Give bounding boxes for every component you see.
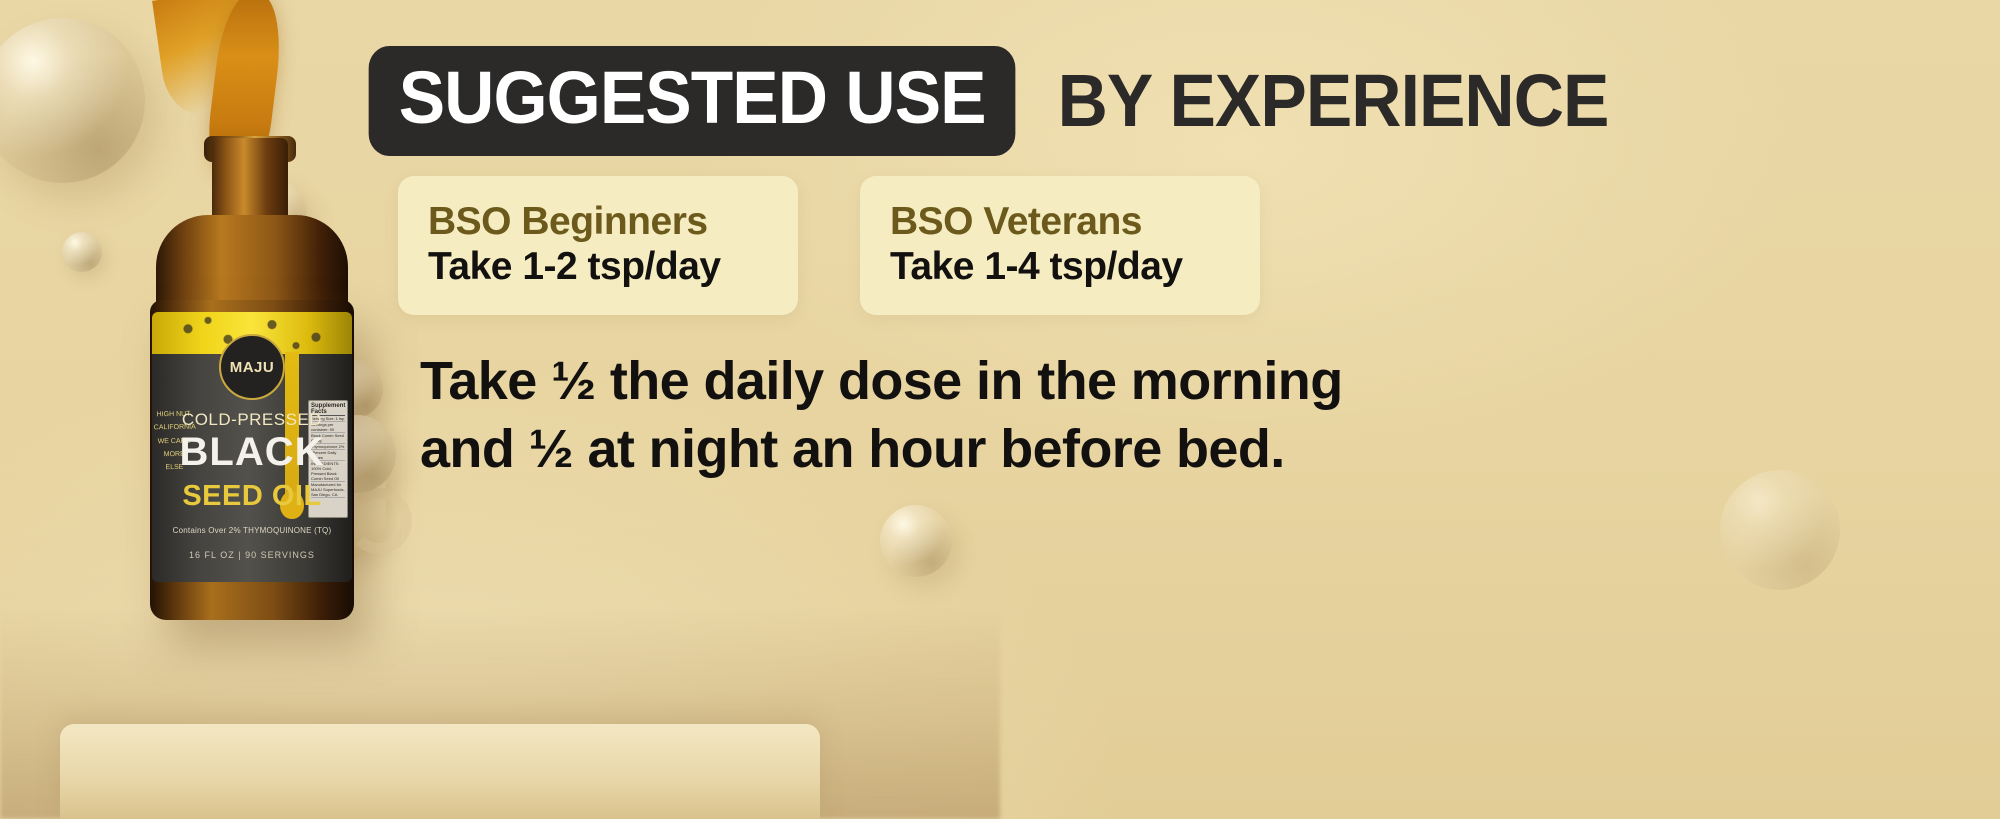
instruction-line-2: and ½ at night an hour before bed. <box>420 416 1740 484</box>
dosage-cards: BSO Beginners Take 1-2 tsp/day BSO Veter… <box>398 176 1260 315</box>
promo-banner: MAJU HIGH NUT CALIFORNIA WE CARE MORE EL… <box>0 0 2000 819</box>
card-title: BSO Veterans <box>890 202 1230 243</box>
headline-badge: SUGGESTED USE <box>369 46 1016 156</box>
headline-rest: BY EXPERIENCE <box>1058 67 1609 135</box>
instruction-line-1: Take ½ the daily dose in the morning <box>420 348 1740 416</box>
label-thymoquinone-claim: Contains Over 2% THYMOQUINONE (TQ) <box>152 526 352 535</box>
label-cold-pressed: COLD-PRESSED <box>152 410 352 430</box>
card-dose: Take 1-2 tsp/day <box>428 245 768 289</box>
headline: SUGGESTED USE BY EXPERIENCE <box>348 46 1626 156</box>
label-seed-oil: SEED OIL <box>152 480 352 513</box>
instruction-paragraph: Take ½ the daily dose in the morning and… <box>420 348 1740 483</box>
dosage-card-veterans: BSO Veterans Take 1-4 tsp/day <box>860 176 1260 315</box>
label-size-servings: 16 FL OZ | 90 SERVINGS <box>152 550 352 560</box>
brand-logo: MAJU <box>219 334 285 400</box>
product-bottle-image: MAJU HIGH NUT CALIFORNIA WE CARE MORE EL… <box>64 0 364 760</box>
card-dose: Take 1-4 tsp/day <box>890 245 1230 289</box>
banner-content: SUGGESTED USE BY EXPERIENCE BSO Beginner… <box>348 0 2000 819</box>
dosage-card-beginners: BSO Beginners Take 1-2 tsp/day <box>398 176 798 315</box>
label-black: BLACK <box>152 430 352 475</box>
card-title: BSO Beginners <box>428 202 768 243</box>
bottle-label: MAJU HIGH NUT CALIFORNIA WE CARE MORE EL… <box>152 312 352 582</box>
